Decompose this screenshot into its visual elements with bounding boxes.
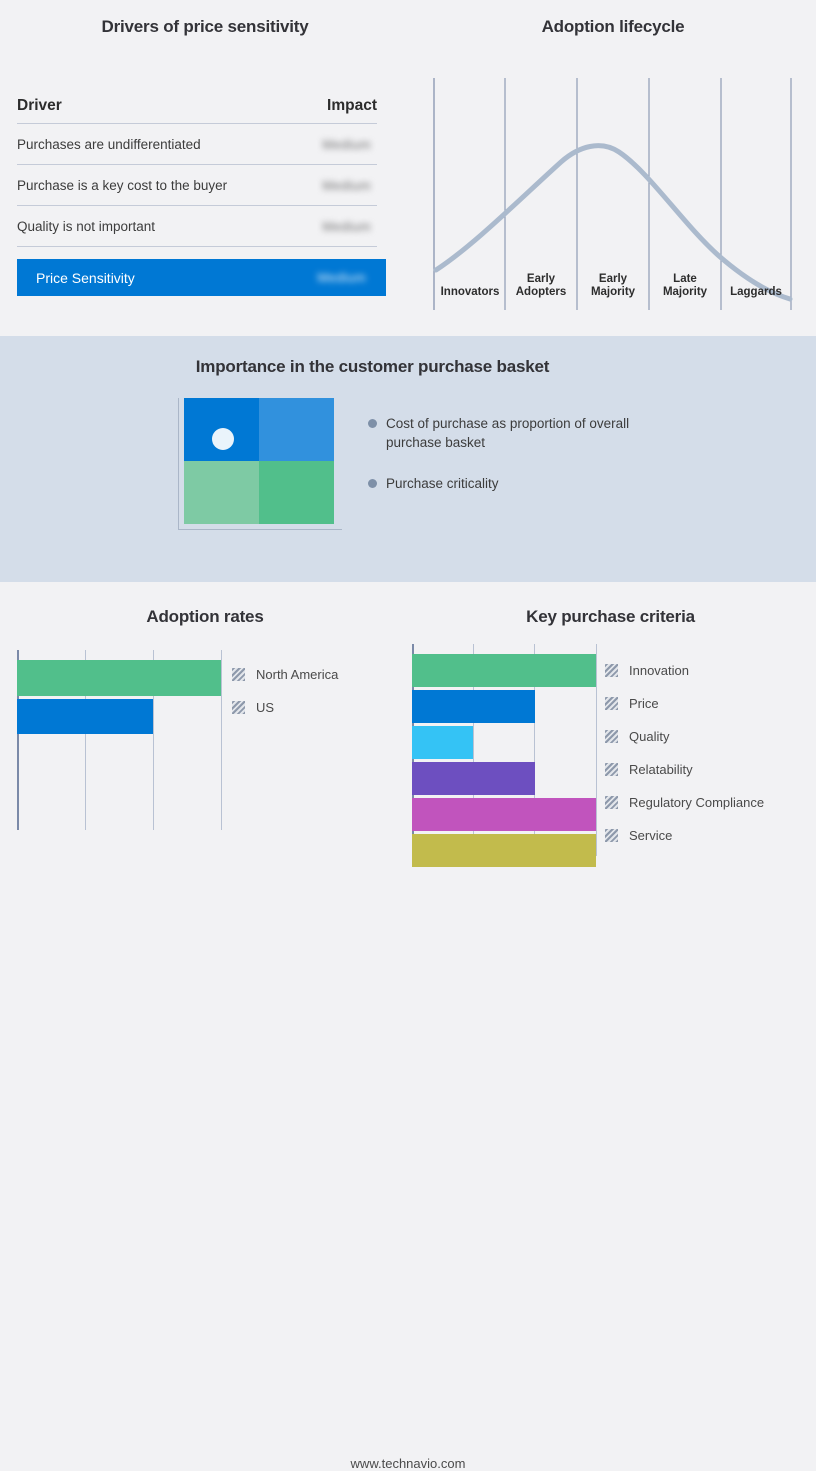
hatch-swatch-icon	[605, 829, 618, 842]
key-purchase-criteria-legend: Innovation Price Quality Relatability Re…	[605, 654, 764, 852]
bar-quality[interactable]	[412, 726, 473, 759]
legend-label: North America	[256, 667, 338, 682]
matrix-quadrants	[184, 398, 334, 524]
legend-item: Purchase criticality	[368, 474, 668, 493]
legend-item: Price	[605, 687, 764, 720]
table-row[interactable]: Quality is not important Medium	[17, 206, 377, 247]
key-purchase-criteria-plot	[412, 644, 597, 856]
purchase-basket-title: Importance in the customer purchase bask…	[0, 357, 745, 377]
quadrant-bottom-right[interactable]	[259, 461, 334, 524]
adoption-lifecycle-panel: Adoption lifecycle Innovators EarlyAdopt…	[410, 0, 816, 336]
legend-label: US	[256, 700, 274, 715]
hatch-swatch-icon	[605, 664, 618, 677]
key-purchase-criteria-panel: Key purchase criteria Innovation Price	[405, 582, 816, 902]
stage-label-innovators: Innovators	[435, 286, 505, 299]
top-section: Drivers of price sensitivity Driver Impa…	[0, 0, 816, 336]
summary-impact-value: Medium	[317, 270, 372, 285]
gridline	[596, 644, 597, 856]
table-row[interactable]: Purchases are undifferentiated Medium	[17, 124, 377, 165]
purchase-basket-section: Importance in the customer purchase bask…	[0, 336, 816, 582]
adoption-lifecycle-chart: Innovators EarlyAdopters EarlyMajority L…	[433, 78, 793, 310]
purchase-basket-legend: Cost of purchase as proportion of overal…	[368, 414, 668, 515]
bar-relatability[interactable]	[412, 762, 535, 795]
legend-item: Relatability	[605, 753, 764, 786]
legend-label: Relatability	[629, 762, 693, 777]
drivers-table: Driver Impact Purchases are undifferenti…	[17, 88, 377, 296]
legend-label: Service	[629, 828, 672, 843]
legend-label: Cost of purchase as proportion of overal…	[386, 414, 668, 452]
price-sensitivity-summary-row[interactable]: Price Sensitivity Medium	[17, 259, 386, 296]
legend-label: Purchase criticality	[386, 474, 499, 493]
legend-label: Regulatory Compliance	[629, 795, 764, 810]
gridline	[221, 650, 222, 830]
hatch-swatch-icon	[605, 763, 618, 776]
table-row[interactable]: Purchase is a key cost to the buyer Medi…	[17, 165, 377, 206]
hatch-swatch-icon	[605, 697, 618, 710]
adoption-rates-title: Adoption rates	[0, 607, 410, 627]
adoption-lifecycle-title: Adoption lifecycle	[410, 17, 816, 37]
bar-us[interactable]	[17, 699, 153, 734]
legend-item: Regulatory Compliance	[605, 786, 764, 819]
bar-service[interactable]	[412, 834, 596, 867]
drivers-title: Drivers of price sensitivity	[0, 17, 410, 37]
bar-innovation[interactable]	[412, 654, 596, 687]
impact-value: Medium	[322, 137, 377, 152]
footer-url[interactable]: www.technavio.com	[0, 1456, 816, 1471]
stage-label-early-adopters: EarlyAdopters	[507, 273, 575, 299]
bullet-dot-icon	[368, 479, 377, 488]
drivers-panel: Drivers of price sensitivity Driver Impa…	[0, 0, 410, 336]
impact-value: Medium	[322, 219, 377, 234]
column-header-driver: Driver	[17, 97, 62, 115]
column-header-impact: Impact	[327, 97, 377, 115]
stage-label-laggards: Laggards	[723, 286, 789, 299]
bottom-section: Adoption rates North America US Key purc…	[0, 582, 816, 902]
bar-north-america[interactable]	[17, 660, 221, 696]
purchase-basket-matrix	[178, 398, 342, 533]
bar-price[interactable]	[412, 690, 535, 723]
adoption-rates-plot	[17, 650, 222, 830]
legend-item: Quality	[605, 720, 764, 753]
legend-item: North America	[232, 658, 338, 691]
matrix-axis-vertical	[178, 398, 179, 530]
bar-regulatory-compliance[interactable]	[412, 798, 596, 831]
legend-item: Cost of purchase as proportion of overal…	[368, 414, 668, 452]
hatch-swatch-icon	[605, 730, 618, 743]
legend-label: Quality	[629, 729, 669, 744]
legend-item: Service	[605, 819, 764, 852]
driver-label: Purchases are undifferentiated	[17, 137, 201, 152]
stage-label-early-majority: EarlyMajority	[579, 273, 647, 299]
adoption-rates-panel: Adoption rates North America US	[0, 582, 410, 902]
stage-label-late-majority: LateMajority	[651, 273, 719, 299]
hatch-swatch-icon	[605, 796, 618, 809]
summary-label: Price Sensitivity	[36, 270, 135, 286]
key-purchase-criteria-title: Key purchase criteria	[405, 607, 816, 627]
hatch-swatch-icon	[232, 668, 245, 681]
driver-label: Quality is not important	[17, 219, 155, 234]
legend-label: Price	[629, 696, 659, 711]
legend-item: Innovation	[605, 654, 764, 687]
quadrant-top-left[interactable]	[184, 398, 259, 461]
quadrant-bottom-left[interactable]	[184, 461, 259, 524]
matrix-position-marker	[212, 428, 234, 450]
legend-item: US	[232, 691, 338, 724]
driver-label: Purchase is a key cost to the buyer	[17, 178, 227, 193]
legend-label: Innovation	[629, 663, 689, 678]
hatch-swatch-icon	[232, 701, 245, 714]
quadrant-top-right[interactable]	[259, 398, 334, 461]
adoption-rates-legend: North America US	[232, 658, 338, 724]
table-header-row: Driver Impact	[17, 88, 377, 124]
matrix-axis-horizontal	[178, 529, 342, 530]
bullet-dot-icon	[368, 419, 377, 428]
impact-value: Medium	[322, 178, 377, 193]
